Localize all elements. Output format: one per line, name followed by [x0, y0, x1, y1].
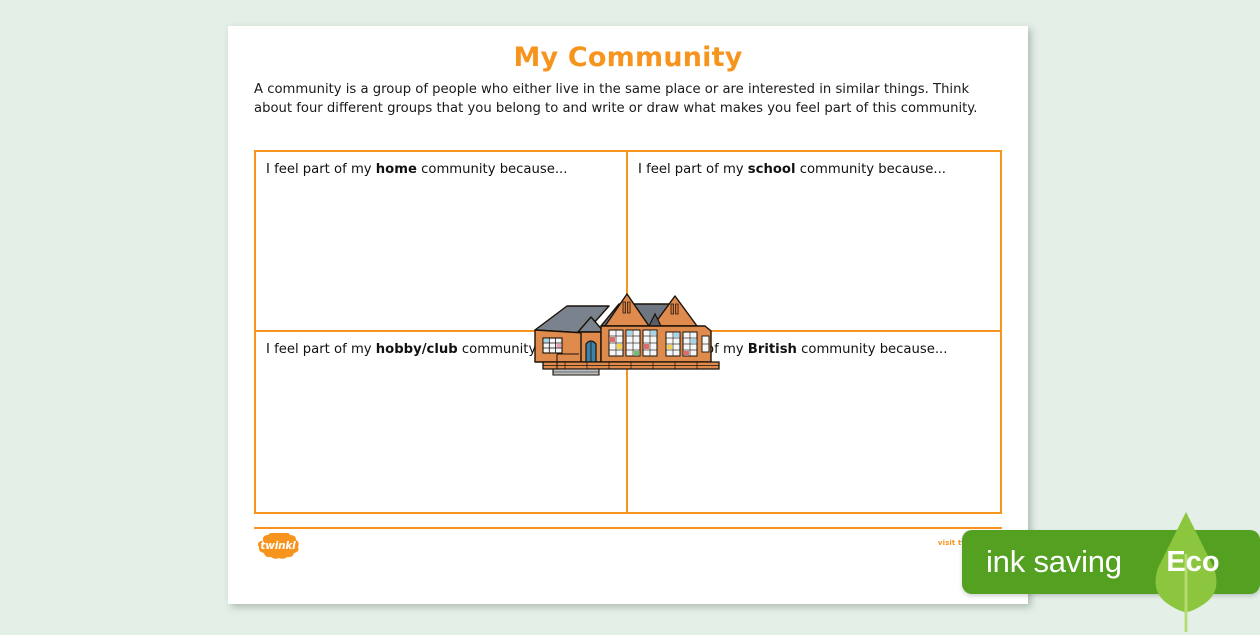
- cell-prompt-suffix: community because...: [797, 342, 947, 357]
- community-grid: I feel part of my home community because…: [254, 150, 1002, 514]
- twinkl-logo-text: twinkl: [254, 533, 302, 559]
- eco-ink-saving-label: ink saving: [986, 530, 1122, 594]
- cell-prompt-prefix: I feel part of my: [266, 342, 376, 357]
- ink-saving-eco-badge: ink saving Eco: [962, 530, 1260, 594]
- cell-prompt-keyword: home: [376, 162, 417, 177]
- worksheet-page: My Community A community is a group of p…: [228, 26, 1028, 604]
- twinkl-logo[interactable]: twinkl: [254, 533, 302, 559]
- footer-divider: [254, 527, 1002, 529]
- cell-prompt-school: I feel part of my school community becau…: [638, 162, 990, 177]
- cell-prompt-prefix: I feel part of my: [638, 162, 748, 177]
- intro-paragraph: A community is a group of people who eit…: [254, 81, 1002, 118]
- grid-cell-school[interactable]: I feel part of my school community becau…: [628, 152, 1000, 332]
- cell-prompt-suffix: community because...: [796, 162, 946, 177]
- cell-prompt-keyword: hobby/club: [376, 342, 458, 357]
- cell-prompt-keyword: school: [748, 162, 796, 177]
- page-title: My Community: [228, 26, 1028, 73]
- grid-cell-hobby-club[interactable]: I feel part of my hobby/club community b…: [256, 332, 628, 512]
- cell-prompt-prefix: I feel part of my: [638, 342, 748, 357]
- cell-prompt-hobby-club: I feel part of my hobby/club community b…: [266, 342, 616, 357]
- grid-cell-british[interactable]: I feel part of my British community beca…: [628, 332, 1000, 512]
- grid-cell-home[interactable]: I feel part of my home community because…: [256, 152, 628, 332]
- cell-prompt-suffix: community because...: [458, 342, 608, 357]
- cell-prompt-suffix: community because...: [417, 162, 567, 177]
- cell-prompt-prefix: I feel part of my: [266, 162, 376, 177]
- cell-prompt-keyword: British: [748, 342, 797, 357]
- cell-prompt-british: I feel part of my British community beca…: [638, 342, 990, 357]
- cell-prompt-home: I feel part of my home community because…: [266, 162, 616, 177]
- eco-label: Eco: [1158, 530, 1228, 594]
